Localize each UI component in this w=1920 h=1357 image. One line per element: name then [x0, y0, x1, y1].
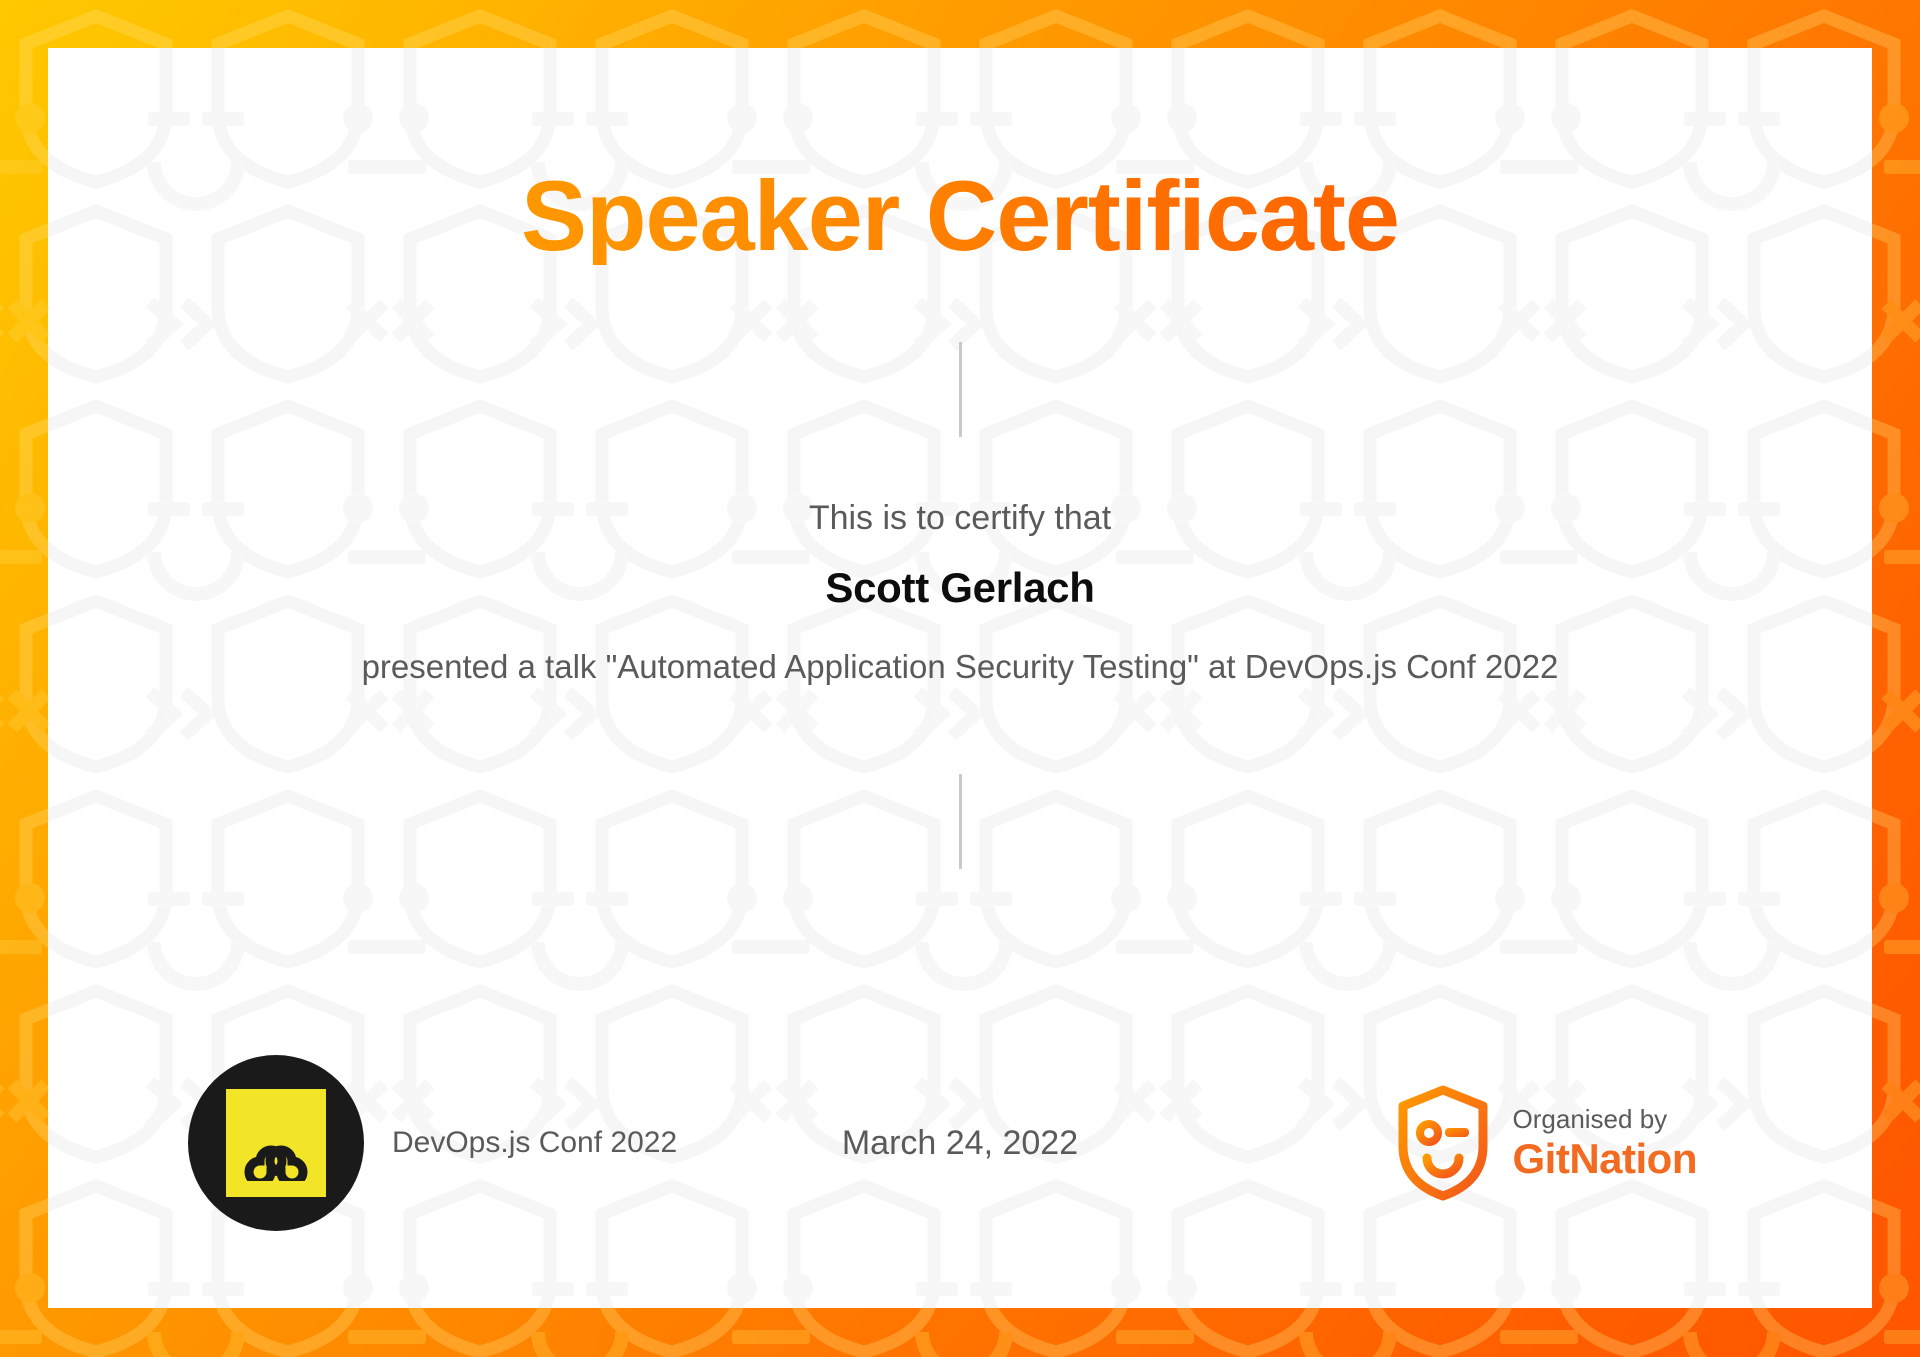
page-title: Speaker Certificate: [521, 166, 1399, 265]
organised-by-label: Organised by: [1513, 1103, 1697, 1136]
gitnation-shield-face-logo-icon: [1395, 1084, 1491, 1202]
certificate-card: Speaker Certificate This is to certify t…: [48, 48, 1872, 1308]
organiser-block: Organised by GitNation: [1395, 978, 1697, 1308]
organiser-text: Organised by GitNation: [1513, 1103, 1697, 1184]
talk-description: presented a talk "Automated Application …: [362, 648, 1559, 686]
recipient-name: Scott Gerlach: [825, 564, 1094, 612]
certificate-frame: Speaker Certificate This is to certify t…: [0, 0, 1920, 1357]
divider-bottom: [959, 774, 962, 869]
certificate-date: March 24, 2022: [842, 1124, 1078, 1163]
organiser-name: GitNation: [1513, 1135, 1697, 1183]
certify-statement: This is to certify that: [809, 499, 1111, 538]
certificate-footer: DevOps.js Conf 2022 March 24, 2022: [48, 978, 1872, 1308]
divider-top: [959, 342, 962, 437]
